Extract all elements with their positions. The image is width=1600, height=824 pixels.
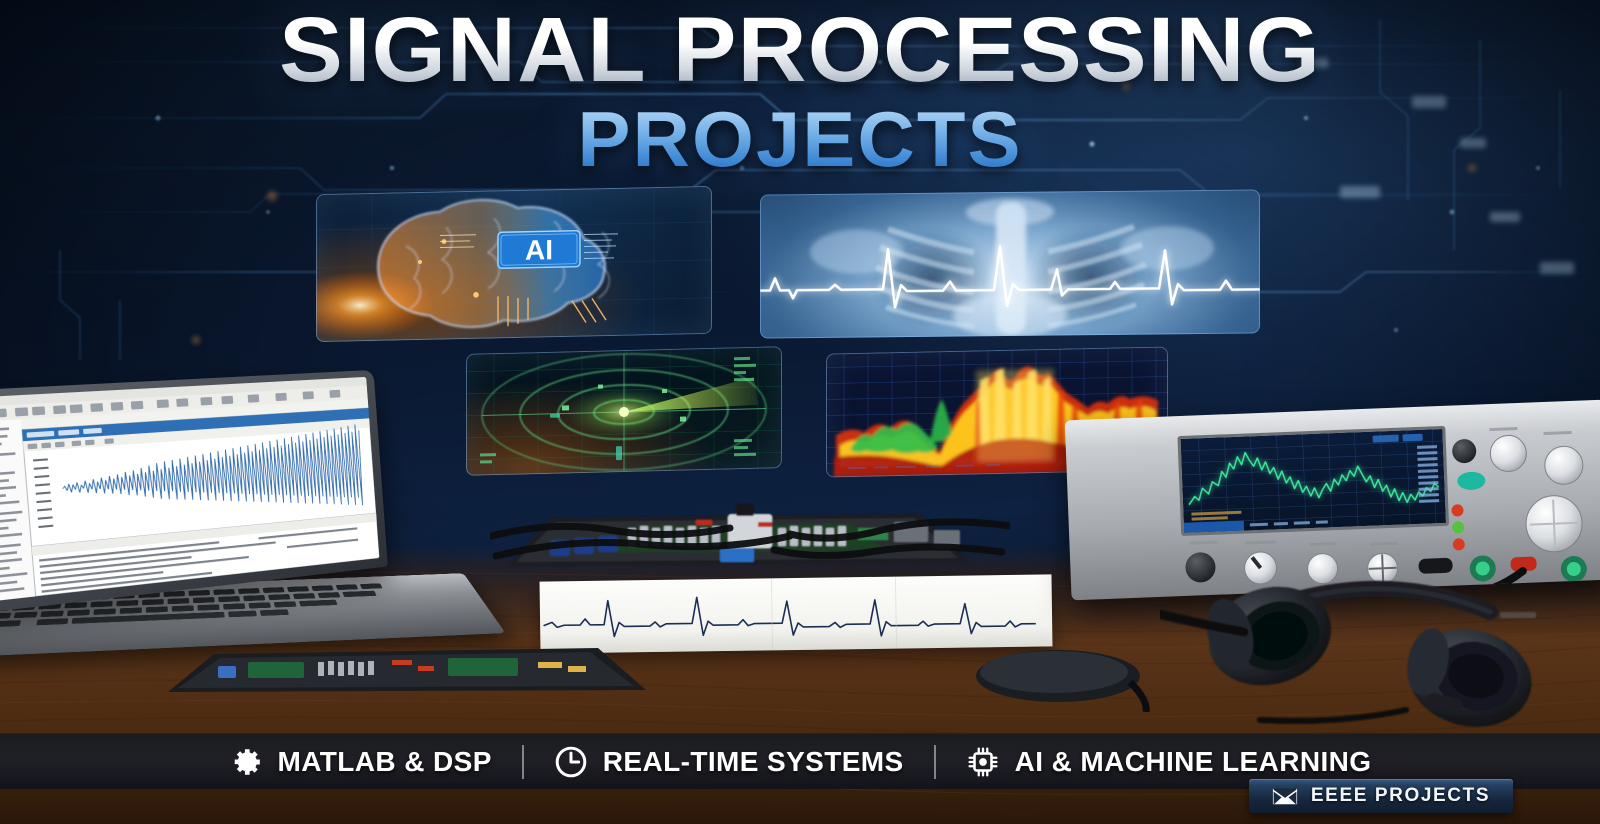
feature-real-time-systems[interactable]: REAL-TIME SYSTEMS [524, 745, 934, 779]
feature-label: REAL-TIME SYSTEMS [603, 746, 904, 778]
ai-brain-panel: AI [316, 186, 712, 342]
feature-ai-machine-learning[interactable]: AI & MACHINE LEARNING [936, 745, 1402, 779]
ai-chip-label: AI [525, 234, 553, 266]
gear-icon [229, 745, 263, 779]
auxiliary-pcb [168, 636, 648, 702]
envelope-icon [1272, 787, 1298, 806]
poster-title-block: SIGNAL PROCESSING PROJECTS [0, 6, 1600, 178]
eeee-projects-badge[interactable]: EEEE PROJECTS [1249, 779, 1513, 813]
computer-mouse [970, 642, 1160, 712]
poster-canvas: SIGNAL PROCESSING PROJECTS [0, 0, 1600, 824]
chest-xray-ecg-panel [760, 189, 1260, 338]
clock-icon [554, 745, 588, 779]
title-sub: PROJECTS [0, 100, 1600, 178]
studio-headphones [1160, 560, 1600, 740]
chip-icon [966, 745, 1000, 779]
title-main: SIGNAL PROCESSING [0, 6, 1600, 94]
feature-matlab-dsp[interactable]: MATLAB & DSP [199, 745, 522, 779]
laptop-screen [0, 377, 379, 604]
badge-label: EEEE PROJECTS [1311, 785, 1490, 807]
feature-label: AI & MACHINE LEARNING [1015, 746, 1372, 778]
development-board [490, 486, 1010, 586]
feature-label: MATLAB & DSP [278, 746, 492, 778]
